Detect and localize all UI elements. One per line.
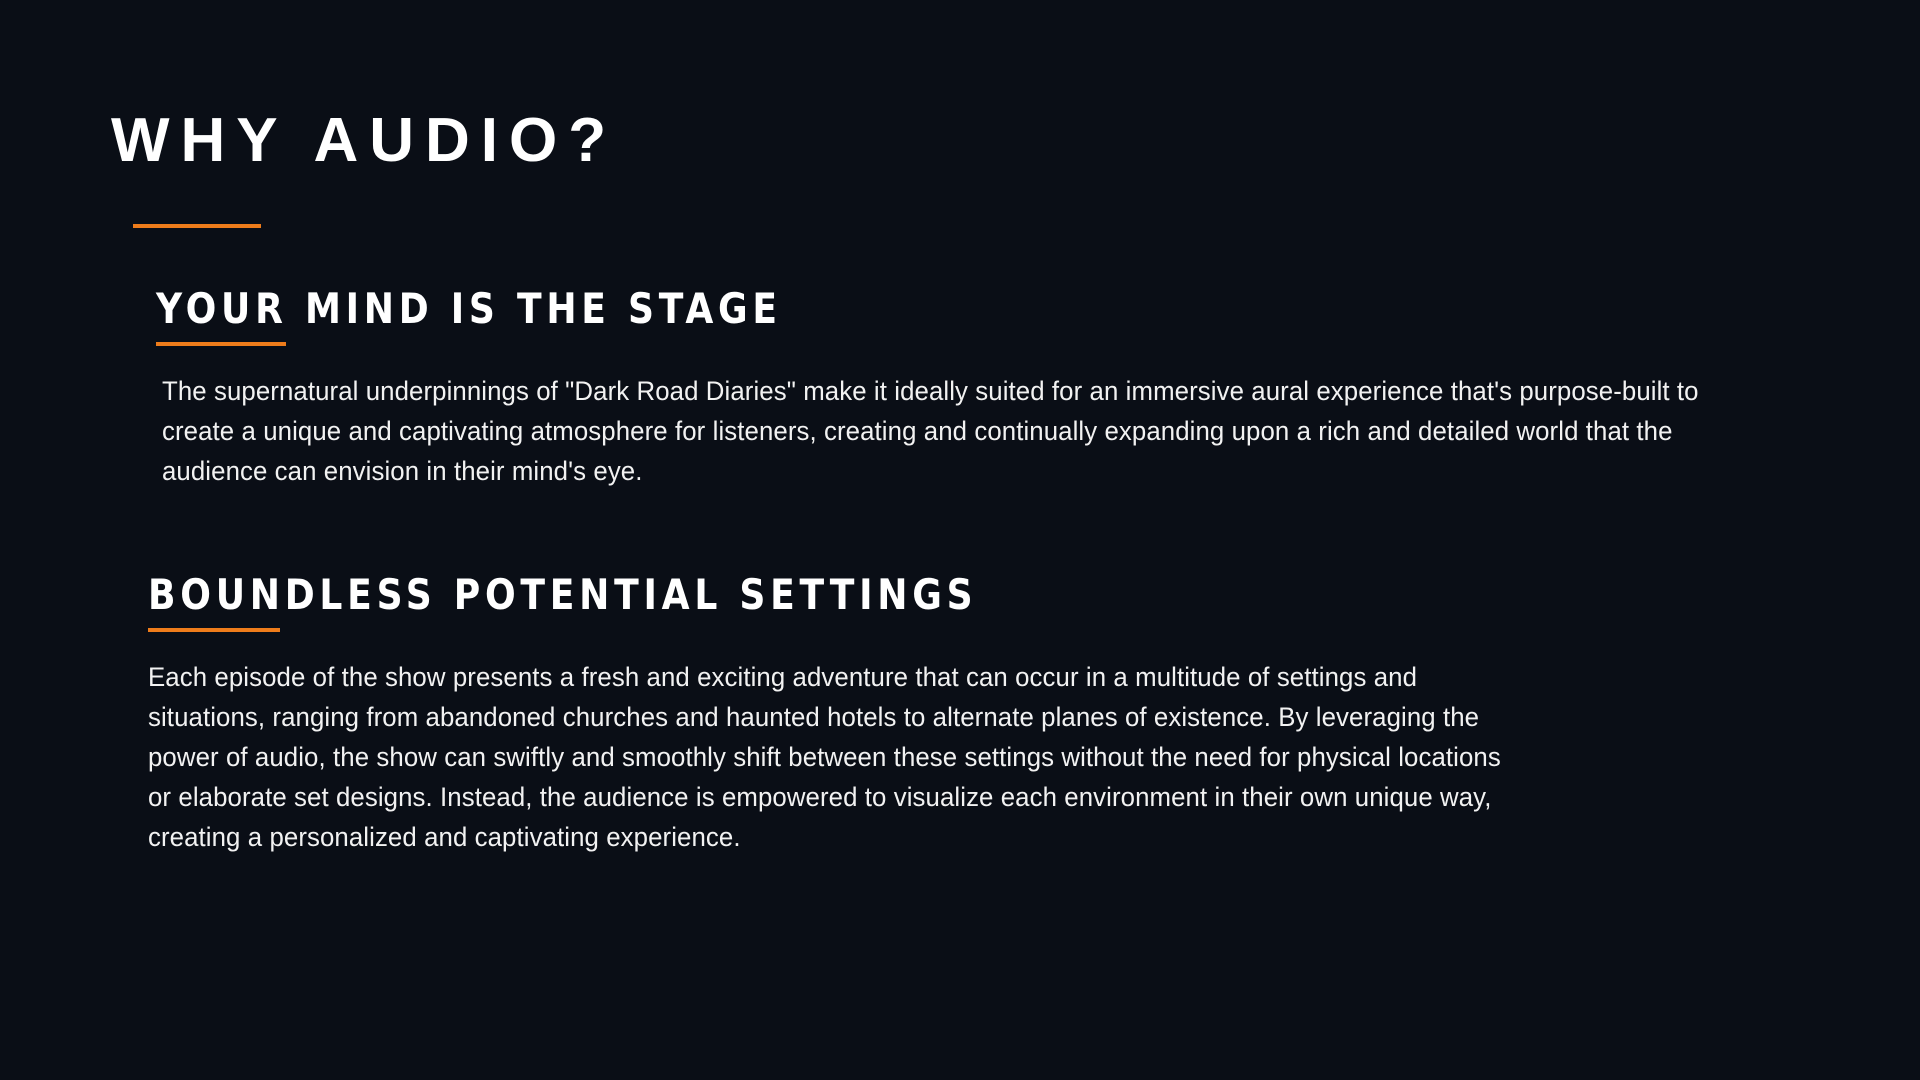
section-heading: BOUNDLESS POTENTIAL SETTINGS	[148, 572, 1610, 617]
section-your-mind-is-the-stage: YOUR MIND IS THE STAGE The supernatural …	[156, 286, 1856, 491]
section-accent-rule	[156, 342, 286, 346]
section-boundless-potential-settings: BOUNDLESS POTENTIAL SETTINGS Each episod…	[148, 572, 1848, 857]
section-body-text: Each episode of the show presents a fres…	[148, 657, 1504, 857]
section-body-text: The supernatural underpinnings of "Dark …	[162, 371, 1747, 491]
section-heading: YOUR MIND IS THE STAGE	[156, 286, 1618, 331]
page-title: WHY AUDIO?	[111, 108, 617, 173]
title-accent-rule	[133, 224, 261, 228]
presentation-slide: WHY AUDIO? YOUR MIND IS THE STAGE The su…	[0, 0, 1920, 1080]
section-accent-rule	[148, 628, 280, 632]
